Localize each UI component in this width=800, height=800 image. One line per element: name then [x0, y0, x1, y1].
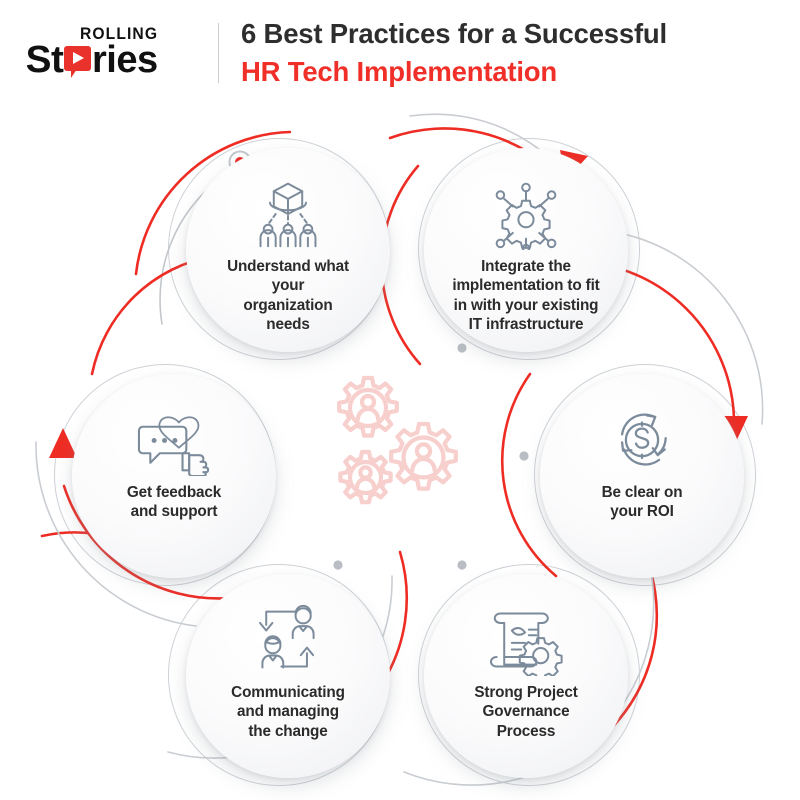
step-node-3-label: Be clear on your ROI: [586, 483, 699, 522]
arrowhead-6: [49, 428, 77, 458]
header-titles: 6 Best Practices for a Successful HR Tec…: [241, 17, 800, 89]
step-node-2[interactable]: Integrate the implementation to fit in w…: [424, 148, 628, 352]
cycle-diagram: Understand what your organization needs …: [0, 106, 800, 800]
document-scroll-gear-icon: [483, 604, 569, 676]
step-node-6-label: Get feedback and support: [111, 483, 237, 522]
step-node-1[interactable]: Understand what your organization needs: [186, 148, 390, 352]
page-title-line2: HR Tech Implementation: [241, 55, 800, 89]
page-title-line1: 6 Best Practices for a Successful: [241, 17, 800, 51]
brand-logo[interactable]: ROLLING Stries: [22, 17, 194, 89]
logo-stories-text: Stries: [26, 41, 158, 79]
step-node-4-label: Strong Project Governance Process: [458, 683, 593, 741]
connector-dot-1: [457, 343, 466, 352]
gears-with-people-icon: [322, 368, 492, 538]
gear-network-nodes-icon: [483, 178, 569, 250]
dollar-cycle-arrows-icon: [599, 404, 685, 476]
step-node-6[interactable]: Get feedback and support: [72, 374, 276, 578]
connector-dot-3: [457, 560, 466, 569]
logo-prefix: St: [26, 41, 64, 79]
infographic-canvas: ROLLING Stries 6 Best Practices for a Su…: [0, 0, 800, 800]
step-node-2-label: Integrate the implementation to fit in w…: [436, 257, 615, 334]
connector-dot-2: [519, 451, 528, 460]
step-node-5-label: Communicating and managing the change: [215, 683, 361, 741]
step-node-5[interactable]: Communicating and managing the change: [186, 574, 390, 778]
logo-suffix: ries: [92, 41, 158, 79]
speech-heart-thumbsup-icon: [131, 404, 217, 476]
two-people-exchange-arrows-icon: [245, 604, 331, 676]
connector-dot-4: [333, 560, 342, 569]
header: ROLLING Stries 6 Best Practices for a Su…: [0, 0, 800, 106]
step-node-4[interactable]: Strong Project Governance Process: [424, 574, 628, 778]
cube-hierarchy-people-icon: [245, 178, 331, 250]
step-node-1-label: Understand what your organization needs: [211, 257, 365, 334]
header-divider: [218, 23, 219, 83]
step-node-3[interactable]: Be clear on your ROI: [540, 374, 744, 578]
play-bubble-icon: [64, 46, 91, 76]
center-gears-graphic: [322, 368, 492, 538]
